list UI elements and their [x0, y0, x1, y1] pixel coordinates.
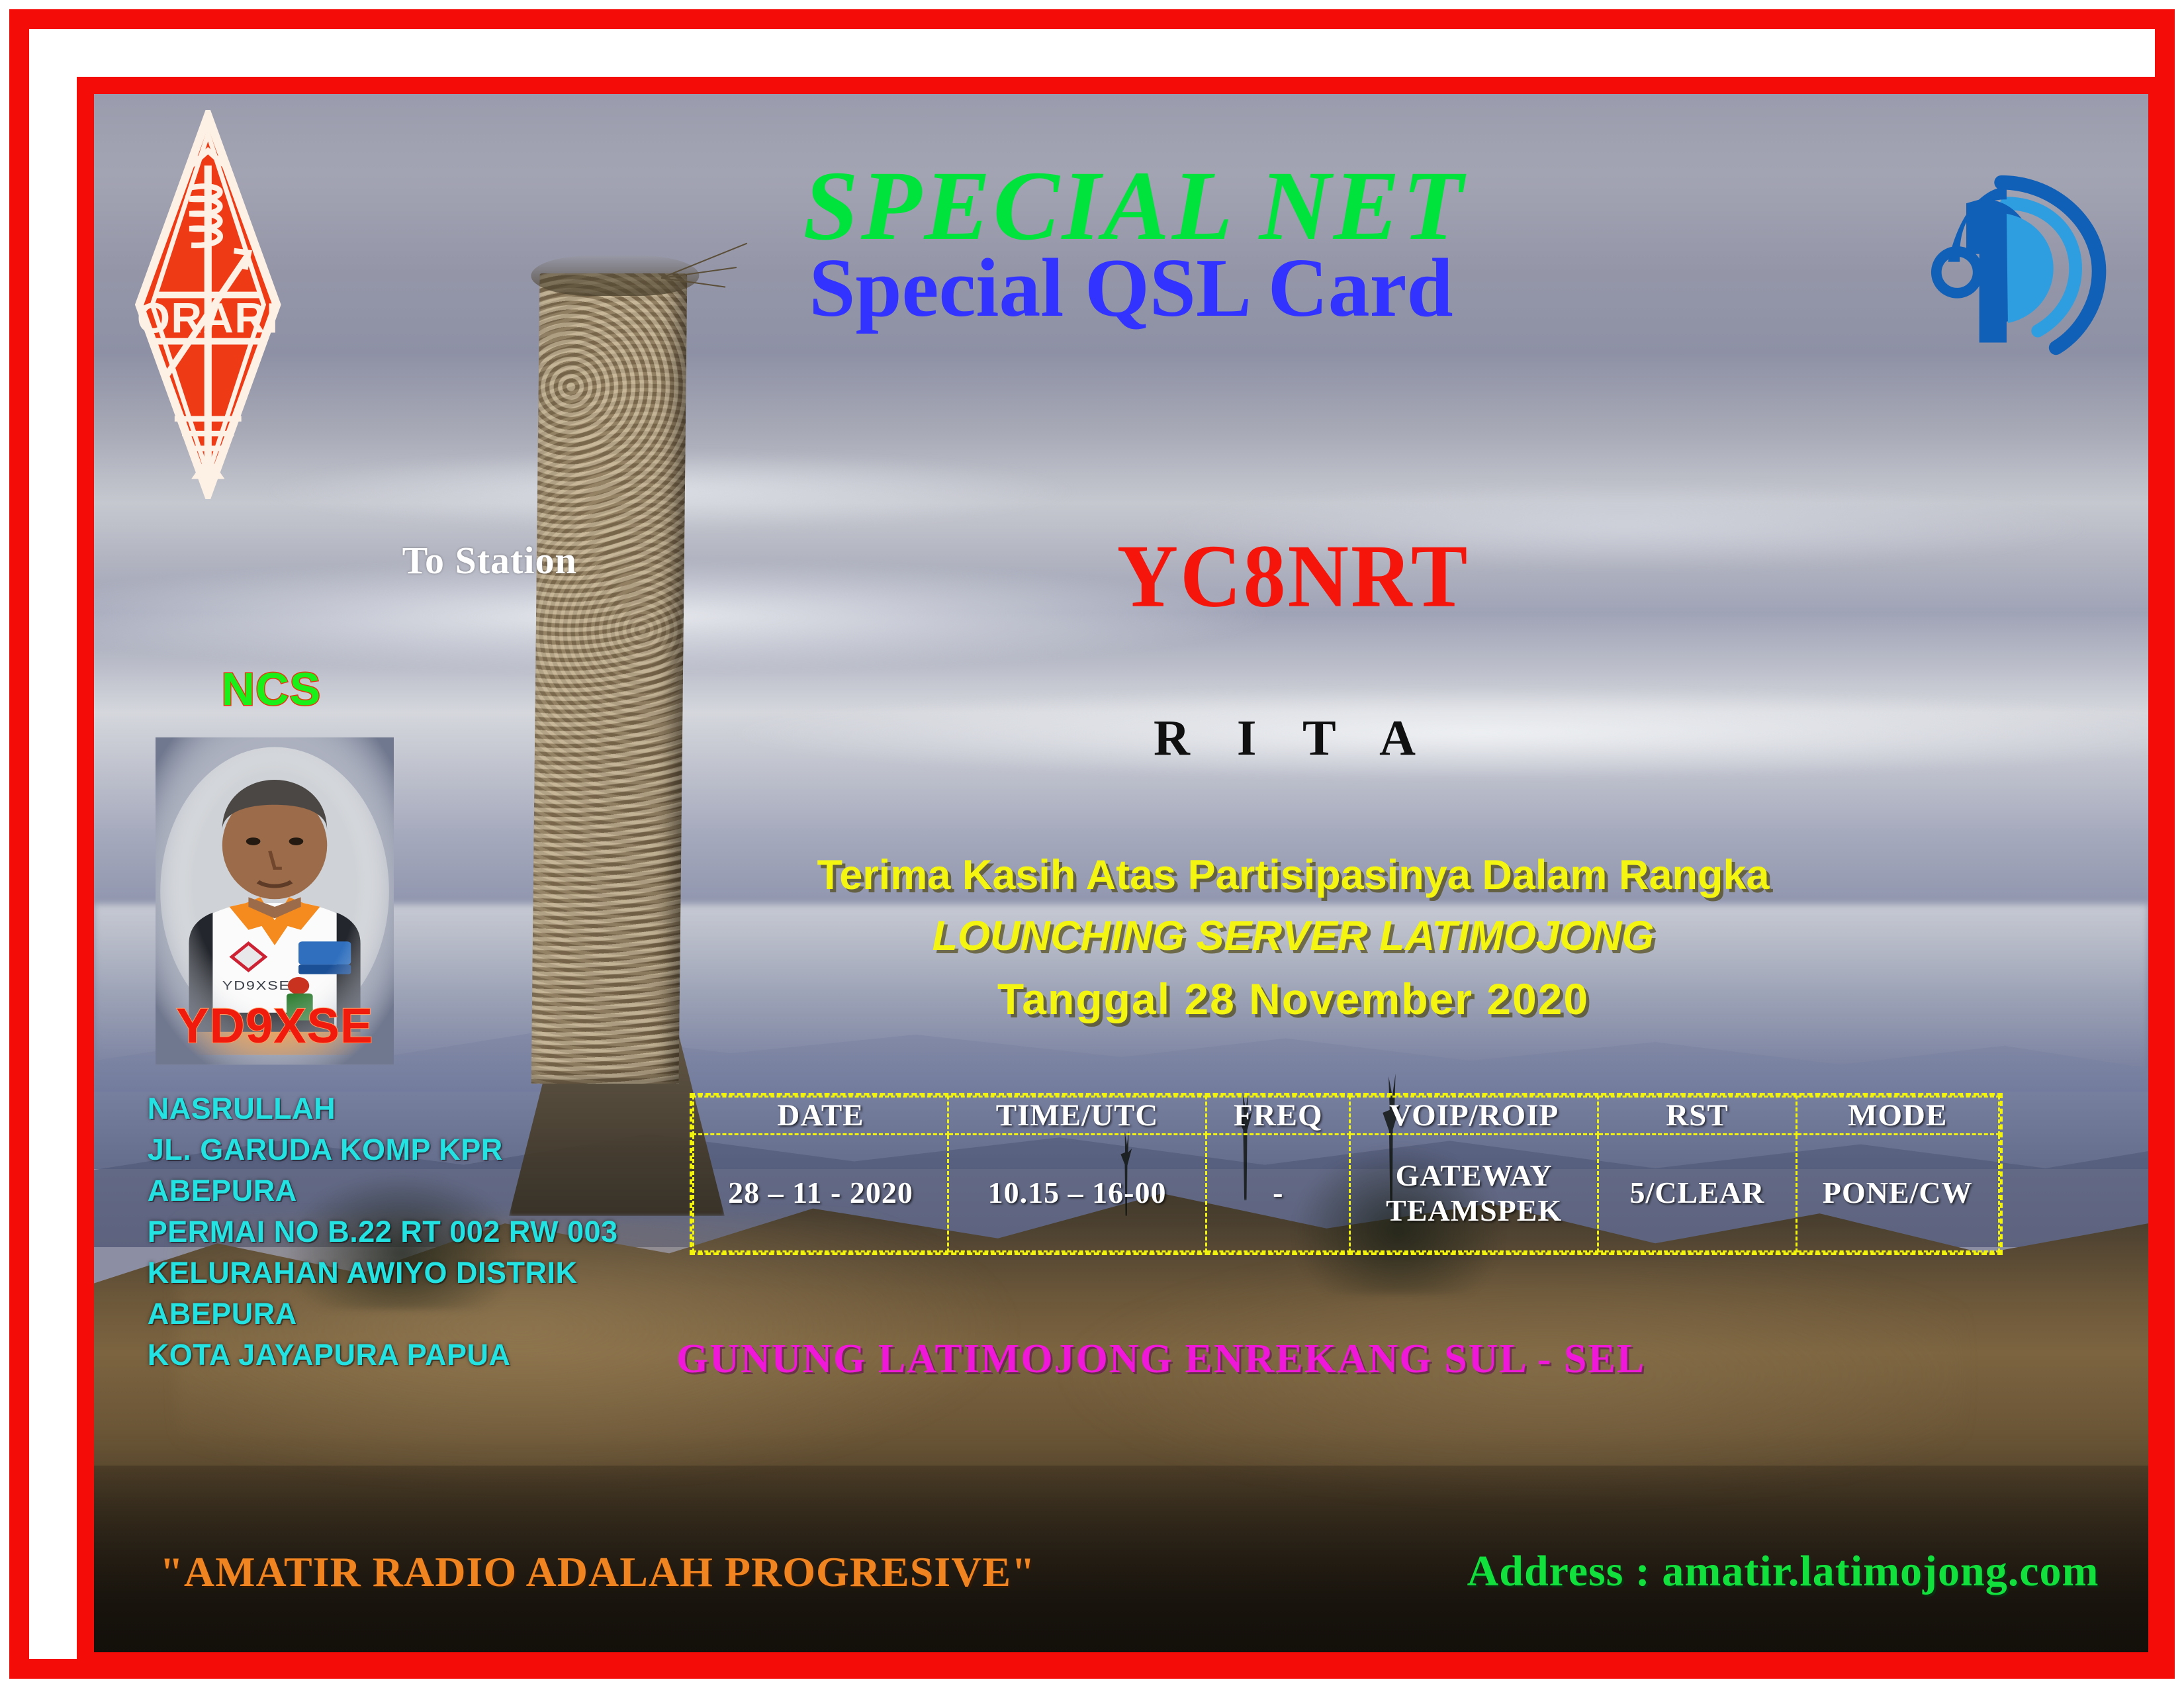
qsl-card: ORARI [0, 0, 2184, 1688]
qso-details-table: DATE TIME/UTC FREQ VOIP/ROIP RST MODE 28… [690, 1093, 2002, 1255]
column-header-voip: VOIP/ROIP [1350, 1096, 1598, 1134]
page-subtitle-special-qsl-card: Special QSL Card [94, 247, 2148, 330]
cell-time: 10.15 – 16-00 [948, 1134, 1206, 1251]
cell-mode: PONE/CW [1796, 1134, 1999, 1251]
cell-rst: 5/CLEAR [1598, 1134, 1797, 1251]
location-line: GUNUNG LATIMOJONG ENREKANG SUL - SEL [94, 1336, 2148, 1383]
column-header-rst: RST [1598, 1096, 1797, 1134]
thanks-line-3: Tanggal 28 November 2020 [438, 967, 2148, 1031]
address-line: NASRULLAH [148, 1088, 618, 1129]
address-line: PERMAI NO B.22 RT 002 RW 003 [148, 1211, 618, 1252]
address-line: ABEPURA [148, 1293, 618, 1335]
cell-voip: GATEWAY TEAMSPEK [1350, 1134, 1598, 1251]
table-header-row: DATE TIME/UTC FREQ VOIP/ROIP RST MODE [694, 1096, 1999, 1134]
address-line: JL. GARUDA KOMP KPR [148, 1129, 618, 1170]
motto-text: "AMATIR RADIO ADALAH PROGRESIVE" [159, 1548, 1035, 1597]
thanks-line-1: Terima Kasih Atas Partisipasinya Dalam R… [438, 845, 2148, 906]
station-callsign: YC8NRT [94, 531, 2148, 621]
column-header-freq: FREQ [1206, 1096, 1350, 1134]
page-title-special-net: SPECIAL NET [94, 156, 2148, 256]
operator-name: R I T A [94, 713, 2148, 763]
address-line: KELURAHAN AWIYO DISTRIK [148, 1252, 618, 1293]
contact-address-url: Address : amatir.latimojong.com [1467, 1546, 2099, 1597]
address-line: ABEPURA [148, 1170, 618, 1211]
card-inner-border: ORARI [77, 77, 2165, 1669]
station-address: NASRULLAH JL. GARUDA KOMP KPR ABEPURA PE… [148, 1088, 618, 1376]
column-header-time: TIME/UTC [948, 1096, 1206, 1134]
table-row: 28 – 11 - 2020 10.15 – 16-00 - GATEWAY T… [694, 1134, 1999, 1251]
cell-freq: - [1206, 1134, 1350, 1251]
card-outer-border: ORARI [9, 9, 2175, 1679]
card-content-layer: ORARI [94, 94, 2148, 1652]
cell-voip-line-2: TEAMSPEK [1351, 1193, 1597, 1228]
thanks-message: Terima Kasih Atas Partisipasinya Dalam R… [94, 845, 2148, 1031]
cell-date: 28 – 11 - 2020 [694, 1134, 948, 1251]
ncs-label: NCS [221, 663, 321, 716]
thanks-line-2: LOUNCHING SERVER LATIMOJONG [438, 906, 2148, 967]
column-header-date: DATE [694, 1096, 948, 1134]
column-header-mode: MODE [1796, 1096, 1999, 1134]
cell-voip-line-1: GATEWAY [1351, 1158, 1597, 1193]
